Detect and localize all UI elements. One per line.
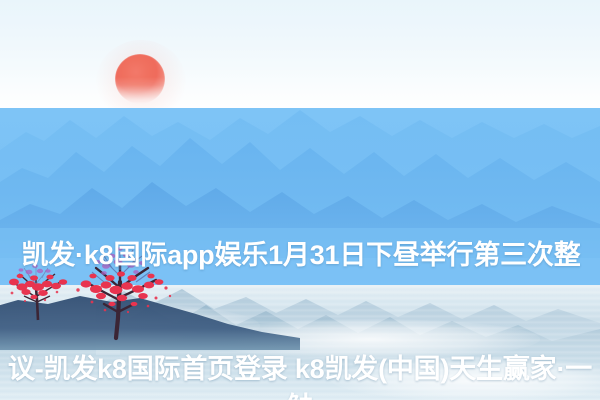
sky-upper bbox=[0, 0, 600, 112]
banner-headline: 凯发·k8国际app娱乐1月31日下昼举行第三次整 议-凯发k8国际首页登录 k… bbox=[0, 160, 600, 400]
banner-image: 凯发·k8国际app娱乐1月31日下昼举行第三次整 议-凯发k8国际首页登录 k… bbox=[0, 0, 600, 400]
rising-sun-icon bbox=[115, 54, 165, 104]
headline-line-1: 凯发·k8国际app娱乐1月31日下昼举行第三次整 bbox=[2, 236, 600, 274]
headline-line-2: 议-凯发k8国际首页登录 k8凯发(中国)天生赢家·一触 bbox=[0, 350, 600, 400]
